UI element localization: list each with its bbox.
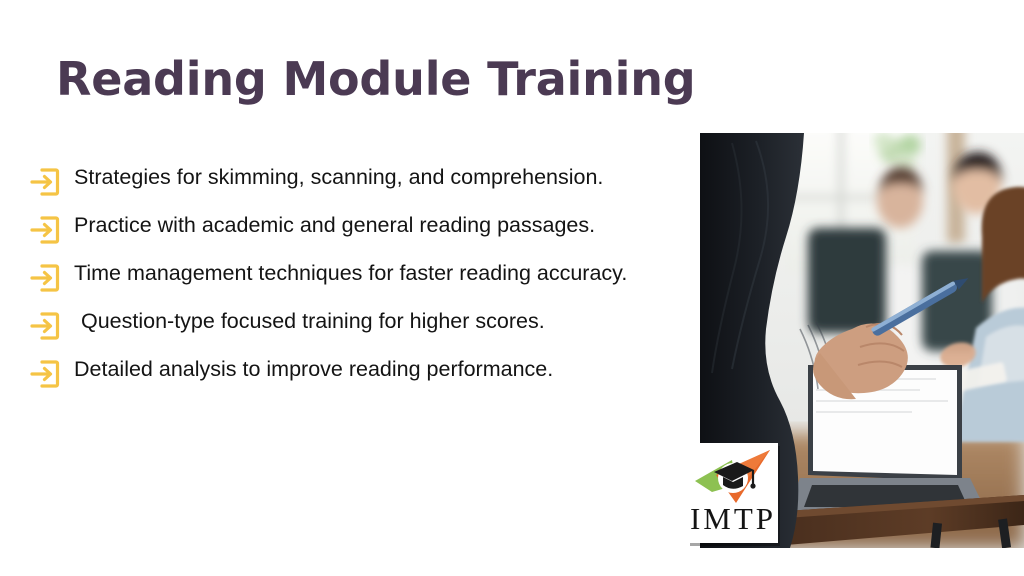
arrow-into-box-icon	[30, 359, 60, 389]
logo-mark-icon	[692, 445, 774, 507]
logo-text: IMTP	[688, 503, 778, 534]
imtp-logo: IMTP	[688, 443, 778, 543]
slide-canvas: Reading Module Training Strategies for s…	[0, 0, 1024, 576]
list-item-label: Strategies for skimming, scanning, and c…	[74, 163, 690, 191]
list-item: Practice with academic and general readi…	[30, 211, 690, 245]
bullet-list: Strategies for skimming, scanning, and c…	[30, 163, 690, 403]
list-item: Question-type focused training for highe…	[30, 307, 690, 341]
list-item-label: Question-type focused training for highe…	[74, 307, 690, 335]
arrow-into-box-icon	[30, 263, 60, 293]
arrow-into-box-icon	[30, 215, 60, 245]
arrow-into-box-icon	[30, 167, 60, 197]
list-item-label: Practice with academic and general readi…	[74, 211, 690, 239]
list-item: Time management techniques for faster re…	[30, 259, 690, 293]
list-item: Strategies for skimming, scanning, and c…	[30, 163, 690, 197]
list-item: Detailed analysis to improve reading per…	[30, 355, 690, 389]
list-item-label: Detailed analysis to improve reading per…	[74, 355, 690, 383]
arrow-into-box-icon	[30, 311, 60, 341]
list-item-label: Time management techniques for faster re…	[74, 259, 690, 287]
page-title: Reading Module Training	[56, 52, 696, 106]
